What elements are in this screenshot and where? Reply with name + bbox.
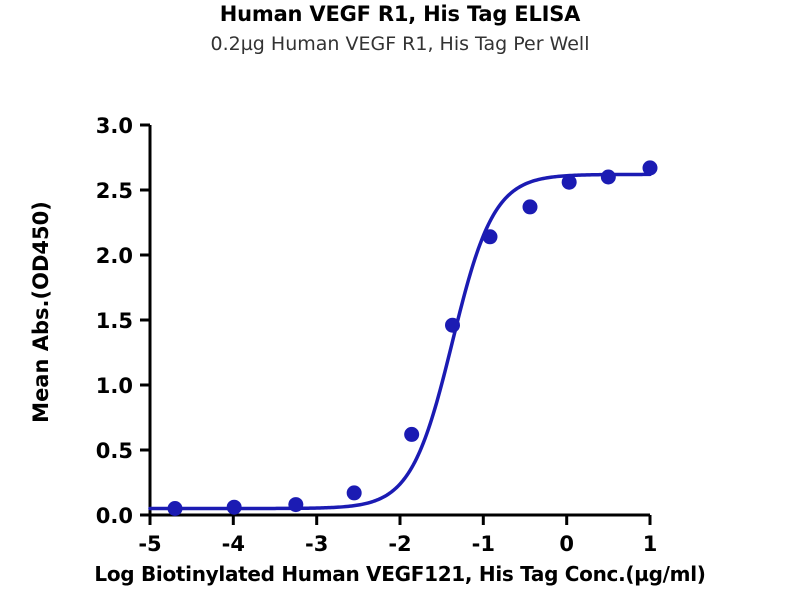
data-point <box>601 170 616 185</box>
y-tick-label: 0.5 <box>96 439 133 463</box>
x-tick-label: 0 <box>559 532 574 556</box>
y-tick-label: 3.0 <box>96 114 133 138</box>
chart-container: Human VEGF R1, His Tag ELISA 0.2µg Human… <box>0 0 800 600</box>
data-point <box>643 160 658 175</box>
x-tick-label: 1 <box>643 532 658 556</box>
data-point <box>445 318 460 333</box>
x-axis-ticks: -5 -4 -3 -2 -1 0 1 <box>138 515 657 556</box>
x-tick-label: -2 <box>388 532 411 556</box>
x-tick-label: -3 <box>305 532 328 556</box>
y-tick-label: 1.5 <box>96 309 133 333</box>
data-point <box>562 175 577 190</box>
x-tick-label: -1 <box>472 532 495 556</box>
data-point <box>483 229 498 244</box>
x-tick-label: -4 <box>222 532 245 556</box>
y-axis-ticks: 0.0 0.5 1.0 1.5 2.0 2.5 3.0 <box>96 114 150 528</box>
data-point <box>168 501 183 516</box>
data-point <box>347 485 362 500</box>
y-tick-label: 1.0 <box>96 374 133 398</box>
data-point <box>227 500 242 515</box>
data-point <box>288 497 303 512</box>
y-tick-label: 0.0 <box>96 504 133 528</box>
fit-curve <box>150 174 650 508</box>
plot-area: 0.0 0.5 1.0 1.5 2.0 2.5 3.0 -5 -4 -3 -2 … <box>0 0 800 600</box>
y-tick-label: 2.5 <box>96 179 133 203</box>
y-tick-label: 2.0 <box>96 244 133 268</box>
x-tick-label: -5 <box>138 532 161 556</box>
data-point <box>404 427 419 442</box>
data-point <box>523 199 538 214</box>
